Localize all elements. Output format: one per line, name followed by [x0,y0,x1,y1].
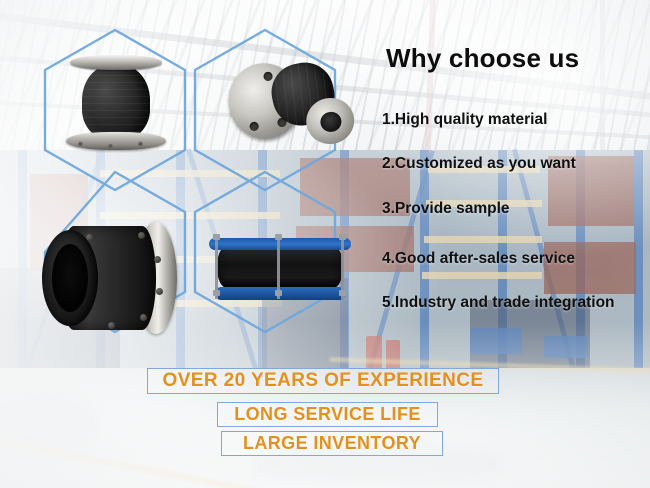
highlight-banner-2: LONG SERVICE LIFE [217,402,438,427]
feature-item-2: 2.Customized as you want [382,155,576,173]
feature-item-5: 5.Industry and trade integration [382,294,615,312]
product-image-4 [205,238,355,300]
promo-banner: Why choose us 1.High quality material 2.… [0,0,650,488]
feature-item-3: 3.Provide sample [382,200,510,218]
hex-gallery [0,0,380,370]
product-image-1 [62,55,170,150]
feature-item-4: 4.Good after-sales service [382,250,575,268]
product-image-3 [42,218,177,338]
feature-item-1: 1.High quality material [382,111,547,129]
highlight-banner-3: LARGE INVENTORY [221,431,443,456]
highlight-banner-1: OVER 20 YEARS OF EXPERIENCE [147,368,499,394]
page-title: Why choose us [386,43,579,74]
